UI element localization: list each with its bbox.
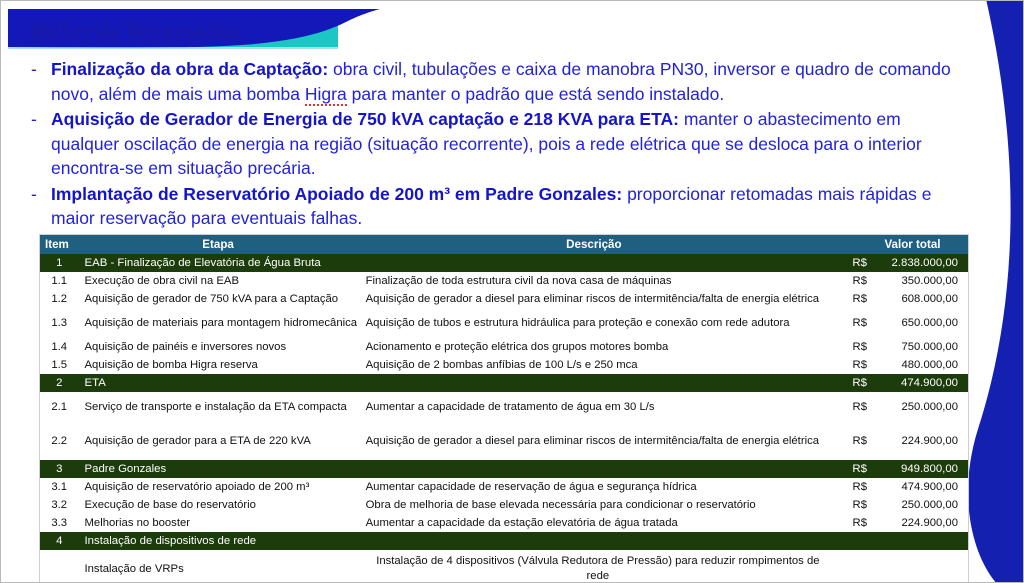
decorative-blue-curve [964,0,1024,583]
cell-valor: 224.900,00 [867,514,968,532]
cell-valor: 608.000,00 [867,290,968,308]
cell-descricao: Aquisição de gerador a diesel para elimi… [358,290,830,308]
cell-etapa: Instalação de VRPs [79,550,358,583]
cell-descricao: Aquisição de gerador a diesel para elimi… [358,422,830,460]
list-item: - Finalização da obra da Captação: obra … [31,57,971,106]
cell-item: 3 [40,460,79,478]
cell-item: 1.2 [40,290,79,308]
cell-valor: 224.900,00 [867,422,968,460]
list-item: - Implantação de Reservatório Apoiado de… [31,182,971,231]
cell-currency: R$ [830,356,867,374]
bullet-misspelled-word: Higra [305,84,347,106]
cell-etapa: Aquisição de gerador para a ETA de 220 k… [79,422,358,460]
cell-etapa: Serviço de transporte e instalação da ET… [79,392,358,422]
bullet-text: Finalização da obra da Captação: obra ci… [51,57,971,106]
column-header-valor-total: Valor total [867,235,968,254]
cell-valor: 350.000,00 [867,272,968,290]
table-header-row: Item Etapa Descrição Valor total [40,235,968,254]
cell-currency: R$ [830,290,867,308]
cell-descricao: Aquisição de tubos e estrutura hidráulic… [358,308,830,338]
cell-item: 2.2 [40,422,79,460]
cell-descricao: Instalação de 4 dispositivos (Válvula Re… [358,550,830,583]
cell-descricao: Aumentar a capacidade de tratamento de á… [358,392,830,422]
cell-currency: R$ [830,272,867,290]
cell-descricao: Acionamento e proteção elétrica dos grup… [358,338,830,356]
cell-etapa: Instalação de dispositivos de rede [79,532,358,550]
cell-etapa: ETA [79,374,358,392]
table-row: 2ETAR$474.900,00 [40,374,968,392]
table-row: 3Padre GonzalesR$949.800,00 [40,460,968,478]
slide-title-banner: Melhorias Necessárias [8,9,380,49]
table-row: 1.2Aquisição de gerador de 750 kVA para … [40,290,968,308]
cell-currency [830,532,867,550]
cell-currency: R$ [830,338,867,356]
cell-item: 1 [40,254,79,272]
cell-item: 1.3 [40,308,79,338]
cell-currency: R$ [830,374,867,392]
bullet-rest-b: para manter o padrão que está sendo inst… [347,84,724,104]
bullet-dash: - [31,182,51,207]
cell-etapa: Aquisição de gerador de 750 kVA para a C… [79,290,358,308]
table-row: 2.2Aquisição de gerador para a ETA de 22… [40,422,968,460]
column-header-spacer [830,235,867,254]
table-row: 4Instalação de dispositivos de rede [40,532,968,550]
cell-valor: 949.800,00 [867,460,968,478]
cell-valor [867,532,968,550]
bullet-dash: - [31,57,51,82]
cell-descricao: Aquisição de 2 bombas anfíbias de 100 L/… [358,356,830,374]
table-row: 1.5Aquisição de bomba Higra reservaAquis… [40,356,968,374]
cell-etapa: Melhorias no booster [79,514,358,532]
costs-table: Item Etapa Descrição Valor total 1EAB - … [40,235,968,583]
bullet-text: Aquisição de Gerador de Energia de 750 k… [51,107,971,181]
bullet-dash: - [31,107,51,132]
table-row: 1.3Aquisição de materiais para montagem … [40,308,968,338]
cell-valor: 650.000,00 [867,308,968,338]
cell-item: 2 [40,374,79,392]
cell-descricao: Obra de melhoria de base elevada necessá… [358,496,830,514]
cell-item: 1.1 [40,272,79,290]
table-row: 1.1Execução de obra civil na EABFinaliza… [40,272,968,290]
cell-currency [830,550,867,583]
cell-currency: R$ [830,460,867,478]
cell-currency: R$ [830,514,867,532]
cell-valor [867,550,968,583]
cell-currency: R$ [830,478,867,496]
costs-table-container: Item Etapa Descrição Valor total 1EAB - … [39,234,969,583]
cell-etapa: Execução de base do reservatório [79,496,358,514]
cell-descricao: Aumentar capacidade de reservação de águ… [358,478,830,496]
cell-valor: 474.900,00 [867,374,968,392]
cell-item: 3.3 [40,514,79,532]
table-row: 3.3Melhorias no boosterAumentar a capaci… [40,514,968,532]
cell-currency: R$ [830,392,867,422]
cell-currency: R$ [830,422,867,460]
column-header-descricao: Descrição [358,235,830,254]
bullet-text: Implantação de Reservatório Apoiado de 2… [51,182,971,231]
cell-item: 2.1 [40,392,79,422]
cell-etapa: EAB - Finalização de Elevatória de Água … [79,254,358,272]
cell-valor: 750.000,00 [867,338,968,356]
cell-currency: R$ [830,308,867,338]
cell-valor: 2.838.000,00 [867,254,968,272]
cell-etapa: Aquisição de painéis e inversores novos [79,338,358,356]
cell-etapa: Execução de obra civil na EAB [79,272,358,290]
cell-item: 1.4 [40,338,79,356]
cell-valor: 250.000,00 [867,496,968,514]
column-header-etapa: Etapa [79,235,358,254]
cell-descricao: Aumentar a capacidade da estação elevató… [358,514,830,532]
cell-etapa: Aquisição de reservatório apoiado de 200… [79,478,358,496]
cell-etapa: Padre Gonzales [79,460,358,478]
cell-valor: 480.000,00 [867,356,968,374]
table-row: 3.1Aquisição de reservatório apoiado de … [40,478,968,496]
table-row: 1.4Aquisição de painéis e inversores nov… [40,338,968,356]
cell-item: 3.2 [40,496,79,514]
page-title: Melhorias Necessárias [31,22,240,44]
slide-canvas: Melhorias Necessárias - Finalização da o… [0,0,1024,583]
cell-currency: R$ [830,496,867,514]
cell-item: 3.1 [40,478,79,496]
cell-item: 4 [40,532,79,550]
cell-etapa: Aquisição de materiais para montagem hid… [79,308,358,338]
list-item: - Aquisição de Gerador de Energia de 750… [31,107,971,181]
column-header-item: Item [40,235,79,254]
cell-item: 1.5 [40,356,79,374]
table-body: 1EAB - Finalização de Elevatória de Água… [40,254,968,583]
bullet-strong: Implantação de Reservatório Apoiado de 2… [51,184,622,204]
cell-valor: 474.900,00 [867,478,968,496]
bullet-strong: Aquisição de Gerador de Energia de 750 k… [51,109,679,129]
table-row: 1EAB - Finalização de Elevatória de Água… [40,254,968,272]
cell-etapa: Aquisição de bomba Higra reserva [79,356,358,374]
bullet-list: - Finalização da obra da Captação: obra … [31,57,971,232]
table-row: 3.2Execução de base do reservatórioObra … [40,496,968,514]
cell-item [40,550,79,583]
cell-descricao [358,254,830,272]
cell-descricao [358,460,830,478]
table-row: Instalação de VRPsInstalação de 4 dispos… [40,550,968,583]
table-header: Item Etapa Descrição Valor total [40,235,968,254]
cell-descricao: Finalização de toda estrutura civil da n… [358,272,830,290]
cell-descricao [358,374,830,392]
bullet-strong: Finalização da obra da Captação: [51,59,328,79]
table-row: 2.1Serviço de transporte e instalação da… [40,392,968,422]
cell-descricao [358,532,830,550]
cell-currency: R$ [830,254,867,272]
cell-valor: 250.000,00 [867,392,968,422]
